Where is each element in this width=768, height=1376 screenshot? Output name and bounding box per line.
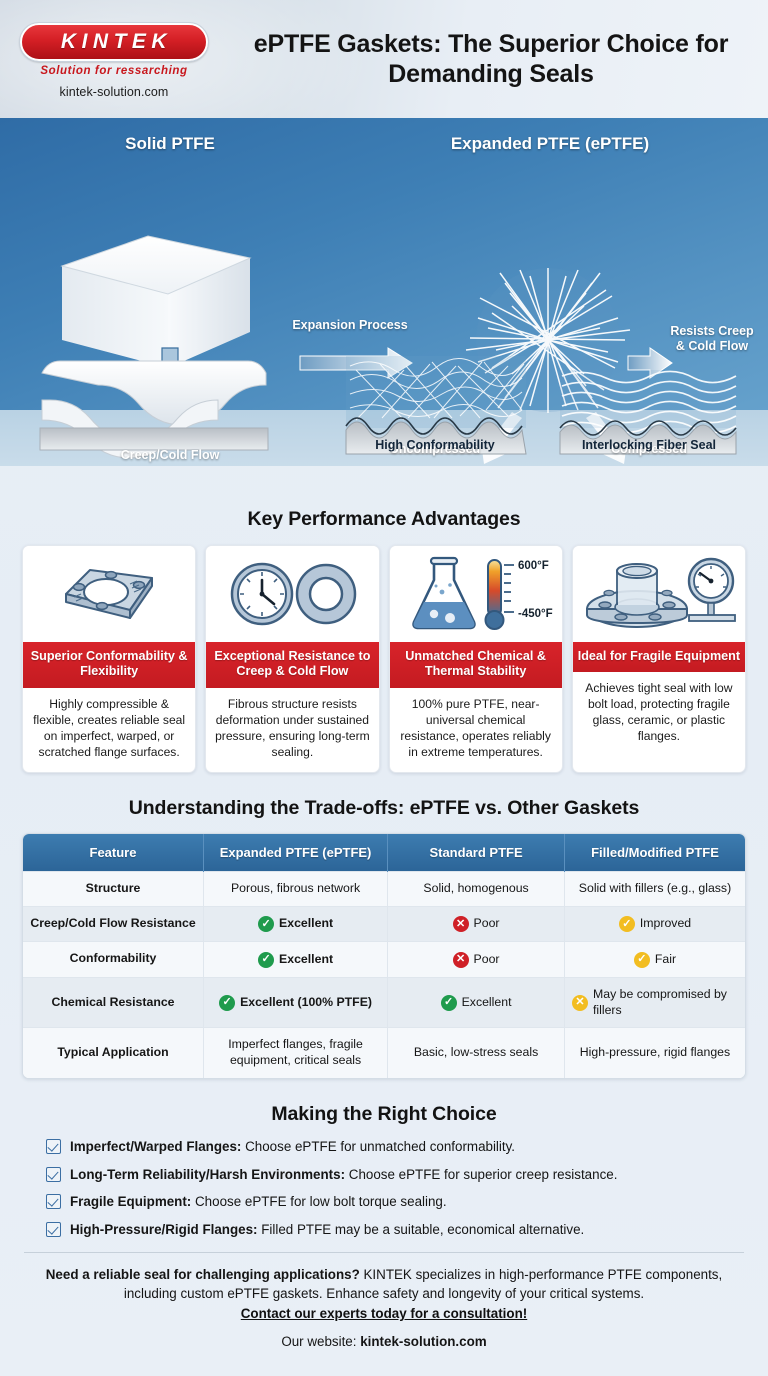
table-cell: Porous, fibrous network — [204, 871, 388, 906]
choice-lead: High-Pressure/Rigid Flanges: — [70, 1222, 258, 1237]
table-cell: ✓ Excellent — [204, 906, 388, 942]
brand-block: KINTEK Solution for ressarching kintek-s… — [0, 19, 228, 99]
table-row: Conformability ✓ Excellent ✕ Poor — [23, 942, 745, 978]
choice-rest: Filled PTFE may be a suitable, economica… — [258, 1222, 585, 1237]
flask-thermometer-icon: 600°F -450°F — [390, 546, 562, 642]
choice-text: Imperfect/Warped Flanges: Choose ePTFE f… — [70, 1138, 515, 1155]
choice-text: High-Pressure/Rigid Flanges: Filled PTFE… — [70, 1221, 584, 1238]
list-item: High-Pressure/Rigid Flanges: Filled PTFE… — [46, 1221, 734, 1238]
advantage-card: Ideal for Fragile Equipment Achieves tig… — [572, 545, 746, 773]
table-cell: ✓ Excellent (100% PTFE) — [204, 977, 388, 1028]
advantage-card: 600°F -450°F Unmatched Chemical & Therma… — [389, 545, 563, 773]
advantage-card: Superior Conformability & Flexibility Hi… — [22, 545, 196, 773]
footer-lead: Need a reliable seal for challenging app… — [46, 1267, 360, 1282]
row-feature-label: Conformability — [23, 942, 204, 978]
advantages-title: Key Performance Advantages — [0, 508, 768, 531]
advantage-card-banner: Exceptional Resistance to Creep & Cold F… — [206, 642, 378, 688]
table-cell: ✕ Poor — [388, 942, 565, 978]
row-feature-label: Structure — [23, 871, 204, 906]
advantage-card-body: 100% pure PTFE, near-universal chemical … — [390, 688, 562, 772]
table-head: Feature Expanded PTFE (ePTFE) Standard P… — [23, 834, 745, 872]
checkbox-icon — [46, 1167, 61, 1182]
footer-section: Need a reliable seal for challenging app… — [0, 1253, 768, 1352]
advantage-card-body: Fibrous structure resists deformation un… — [206, 688, 378, 772]
table-cell: ✕ May be compromised by fillers — [564, 977, 745, 1028]
flange-gauge-icon — [573, 546, 745, 642]
clock-and-ring-icon — [206, 546, 378, 642]
check-badge-icon: ✓ — [219, 995, 235, 1011]
column-header-standard-ptfe: Standard PTFE — [388, 834, 565, 872]
check-badge-icon: ✓ — [441, 995, 457, 1011]
checkbox-icon — [46, 1222, 61, 1237]
header-title-block: ePTFE Gaskets: The Superior Choice for D… — [228, 29, 768, 90]
row-feature-label: Creep/Cold Flow Resistance — [23, 906, 204, 942]
cell-text: Excellent — [279, 952, 333, 968]
hero-label-resists-creep: Resists Creep & Cold Flow — [666, 324, 758, 354]
warn-cross-badge-icon: ✕ — [572, 995, 588, 1011]
choice-lead: Long-Term Reliability/Harsh Environments… — [70, 1167, 345, 1182]
cell-text: Excellent (100% PTFE) — [240, 995, 372, 1011]
list-item: Long-Term Reliability/Harsh Environments… — [46, 1166, 734, 1183]
table-cell: ✓ Excellent — [388, 977, 565, 1028]
comparison-table-wrapper: Feature Expanded PTFE (ePTFE) Standard P… — [22, 833, 746, 1080]
cell-text: Fair — [655, 952, 676, 968]
cell-text: Excellent — [279, 916, 333, 932]
advantage-card-body: Achieves tight seal with low bolt load, … — [573, 672, 745, 771]
flange-gasket-icon — [23, 546, 195, 642]
table-row: Chemical Resistance ✓ Excellent (100% PT… — [23, 977, 745, 1028]
creep-deformed-slab — [40, 361, 268, 458]
cell-text: Poor — [474, 916, 500, 932]
choice-list: Imperfect/Warped Flanges: Choose ePTFE f… — [46, 1138, 734, 1238]
solid-ptfe-cube — [62, 236, 250, 368]
comparison-section: Understanding the Trade-offs: ePTFE vs. … — [0, 797, 768, 1080]
advantage-cards: Superior Conformability & Flexibility Hi… — [0, 545, 768, 773]
choice-lead: Imperfect/Warped Flanges: — [70, 1139, 241, 1154]
table-body: Structure Porous, fibrous network Solid,… — [23, 871, 745, 1078]
website-url: kintek-solution.com — [360, 1334, 486, 1349]
table-cell: Basic, low-stress seals — [388, 1028, 565, 1078]
cell-text: Improved — [640, 916, 691, 932]
cross-badge-icon: ✕ — [453, 952, 469, 968]
row-feature-label: Chemical Resistance — [23, 977, 204, 1028]
column-header-eptfe: Expanded PTFE (ePTFE) — [204, 834, 388, 872]
hero-label-solid-ptfe: Solid PTFE — [60, 134, 280, 154]
table-cell: High-pressure, rigid flanges — [564, 1028, 745, 1078]
checkbox-icon — [46, 1139, 61, 1154]
footer-paragraph: Need a reliable seal for challenging app… — [20, 1266, 748, 1303]
hero-label-expanded-ptfe: Expanded PTFE (ePTFE) — [400, 134, 700, 154]
choice-lead: Fragile Equipment: — [70, 1194, 191, 1209]
hero-caption-interlocking-fiber-seal: Interlocking Fiber Seal — [560, 438, 738, 452]
temp-low-label: -450°F — [518, 608, 553, 620]
hero-label-creep-cold-flow: Creep/Cold Flow — [78, 448, 262, 463]
kintek-logo: KINTEK — [20, 23, 208, 61]
hero-caption-high-conformability: High Conformability — [345, 438, 525, 452]
comparison-title: Understanding the Trade-offs: ePTFE vs. … — [0, 797, 768, 820]
check-badge-icon: ✓ — [258, 952, 274, 968]
pipe-flange — [587, 564, 687, 627]
temp-high-label: 600°F — [518, 560, 549, 572]
cell-text: Excellent — [462, 995, 512, 1011]
warn-check-badge-icon: ✓ — [634, 952, 650, 968]
advantage-card: Exceptional Resistance to Creep & Cold F… — [205, 545, 379, 773]
table-cell: Imperfect flanges, fragile equipment, cr… — [204, 1028, 388, 1078]
page-title: ePTFE Gaskets: The Superior Choice for D… — [232, 29, 750, 90]
table-cell: ✓ Fair — [564, 942, 745, 978]
table-cell: ✓ Excellent — [204, 942, 388, 978]
table-row: Creep/Cold Flow Resistance ✓ Excellent ✕… — [23, 906, 745, 942]
page-header: KINTEK Solution for ressarching kintek-s… — [0, 0, 768, 118]
table-header-row: Feature Expanded PTFE (ePTFE) Standard P… — [23, 834, 745, 872]
logo-url: kintek-solution.com — [0, 85, 228, 99]
check-badge-icon: ✓ — [258, 916, 274, 932]
table-cell: Solid, homogenous — [388, 871, 565, 906]
choice-rest: Choose ePTFE for superior creep resistan… — [345, 1167, 617, 1182]
list-item: Fragile Equipment: Choose ePTFE for low … — [46, 1193, 734, 1210]
cell-text: May be compromised by fillers — [593, 987, 738, 1019]
choice-rest: Choose ePTFE for low bolt torque sealing… — [191, 1194, 446, 1209]
hero-label-expansion-process: Expansion Process — [292, 318, 408, 333]
hero-diagram: Solid PTFE Expanded PTFE (ePTFE) Expansi… — [0, 118, 768, 466]
website-prefix: Our website: — [281, 1334, 360, 1349]
table-cell: Solid with fillers (e.g., glass) — [564, 871, 745, 906]
thermometer — [485, 560, 514, 629]
column-header-feature: Feature — [23, 834, 204, 872]
checkbox-icon — [46, 1194, 61, 1209]
cross-badge-icon: ✕ — [453, 916, 469, 932]
list-item: Imperfect/Warped Flanges: Choose ePTFE f… — [46, 1138, 734, 1155]
footer-website-line: Our website: kintek-solution.com — [20, 1333, 748, 1352]
advantages-section: Key Performance Advantages — [0, 508, 768, 773]
logo-tagline: Solution for ressarching — [0, 65, 228, 77]
logo-wordmark: KINTEK — [56, 30, 172, 54]
cell-text: Poor — [474, 952, 500, 968]
infographic-page: KINTEK Solution for ressarching kintek-s… — [0, 0, 768, 1376]
pressure-gauge — [689, 559, 735, 621]
table-cell: ✓ Improved — [564, 906, 745, 942]
table-cell: ✕ Poor — [388, 906, 565, 942]
choice-text: Long-Term Reliability/Harsh Environments… — [70, 1166, 617, 1183]
choice-text: Fragile Equipment: Choose ePTFE for low … — [70, 1193, 447, 1210]
choice-title: Making the Right Choice — [0, 1103, 768, 1126]
advantage-card-banner: Ideal for Fragile Equipment — [573, 642, 745, 672]
choice-rest: Choose ePTFE for unmatched conformabilit… — [241, 1139, 515, 1154]
warn-check-badge-icon: ✓ — [619, 916, 635, 932]
row-feature-label: Typical Application — [23, 1028, 204, 1078]
table-row: Structure Porous, fibrous network Solid,… — [23, 871, 745, 906]
choice-section: Making the Right Choice Imperfect/Warped… — [0, 1103, 768, 1238]
flask — [413, 558, 474, 628]
contact-cta-link[interactable]: Contact our experts today for a consulta… — [241, 1306, 527, 1321]
column-header-filled-ptfe: Filled/Modified PTFE — [564, 834, 745, 872]
advantage-card-banner: Superior Conformability & Flexibility — [23, 642, 195, 688]
table-row: Typical Application Imperfect flanges, f… — [23, 1028, 745, 1078]
advantage-card-banner: Unmatched Chemical & Thermal Stability — [390, 642, 562, 688]
comparison-table: Feature Expanded PTFE (ePTFE) Standard P… — [23, 834, 745, 1079]
hero-illustration — [0, 118, 768, 466]
advantage-card-body: Highly compressible & flexible, creates … — [23, 688, 195, 772]
